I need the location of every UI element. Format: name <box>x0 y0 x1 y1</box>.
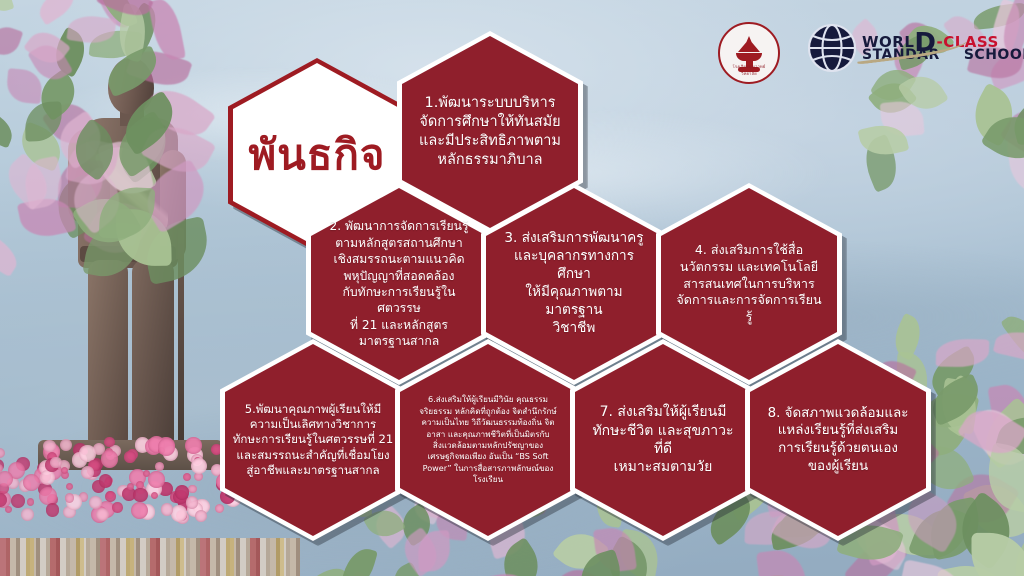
mission-text-3: 3. ส่งเสริมการพัฒนาครู และบุคลากรทางการศ… <box>487 230 661 338</box>
wcs-d: D <box>914 28 936 58</box>
mission-text-2: 2. พัฒนาการจัดการเรียนรู้ ตามหลักสูตรสถา… <box>312 218 486 350</box>
globe-icon <box>806 22 858 74</box>
world-class-standard-school-logo: WORLD-CLASS STANDARSCHOOL <box>806 22 1024 74</box>
mission-text-7: 7. ส่งเสริมให้ผู้เรียนมี ทักษะชีวิต และส… <box>576 403 750 477</box>
seal-ring-text: โรงเรียนบุญวาทย์วิทยาลัย <box>726 63 772 77</box>
mission-text-5: 5.พัฒนาคุณภาพผู้เรียนให้มี ความเป็นเลิศท… <box>227 402 400 478</box>
mission-text-8: 8. จัดสภาพแวดล้อมและ แหล่งเรียนรู้ที่ส่ง… <box>756 405 921 476</box>
bougainvillea-top-left <box>0 0 175 240</box>
slide-canvas: โรงเรียนบุญวาทย์วิทยาลัย WORLD-CLASS <box>0 0 1024 576</box>
mission-text-1: 1.พัฒนาระบบบริหาร จัดการศึกษาให้ทันสมัย … <box>407 94 573 171</box>
school-seal-icon: โรงเรียนบุญวาทย์วิทยาลัย <box>718 22 780 84</box>
mission-text-6: 6.ส่งเสริมให้ผู้เรียนมีวินัย คุณธรรม จริ… <box>415 394 561 486</box>
mission-text-4: 4. ส่งเสริมการใช้สื่อ นวัตกรรม และเทคโนโ… <box>662 242 836 325</box>
page-title: พันธกิจ <box>248 122 385 188</box>
